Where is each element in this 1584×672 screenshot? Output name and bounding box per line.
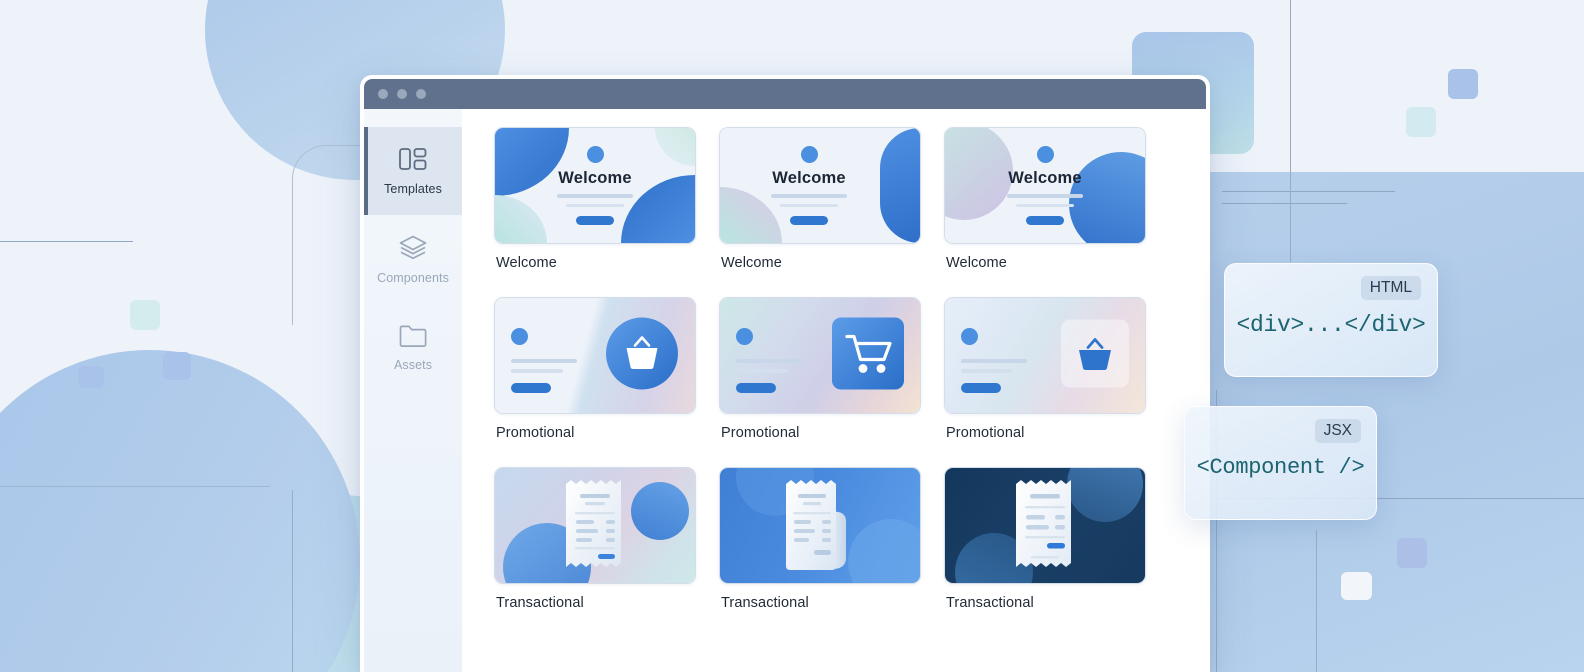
- language-tag: JSX: [1315, 419, 1361, 443]
- bg-circle-large-bottom: [0, 350, 360, 672]
- template-card[interactable]: Promotional: [494, 297, 696, 459]
- avatar: [961, 328, 978, 345]
- bg-square-white: [1341, 572, 1372, 600]
- folder-icon: [398, 323, 428, 348]
- template-card[interactable]: Transactional: [719, 467, 921, 629]
- template-card-title: Welcome: [721, 255, 921, 271]
- bg-line-h-right-2: [1222, 203, 1347, 204]
- sidebar-item-templates[interactable]: Templates: [364, 127, 462, 215]
- template-card[interactable]: Promotional: [944, 297, 1146, 459]
- template-thumbnail[interactable]: Welcome: [944, 127, 1146, 244]
- maximize-button[interactable]: [416, 89, 426, 99]
- template-thumbnail[interactable]: [494, 467, 696, 584]
- template-gallery: Welcome Welcome: [462, 109, 1206, 672]
- sidebar-nav: Templates Components A: [364, 109, 462, 672]
- placeholder-line: [557, 194, 633, 198]
- thumb-heading: Welcome: [558, 169, 632, 188]
- app-window: Templates Components A: [360, 75, 1210, 672]
- close-button[interactable]: [378, 89, 388, 99]
- template-card-title: Transactional: [721, 595, 921, 611]
- layers-icon: [398, 234, 428, 261]
- bg-square-mint-2: [1406, 107, 1436, 137]
- sidebar-item-components[interactable]: Components: [364, 215, 462, 303]
- bg-square-periwinkle: [1397, 538, 1427, 568]
- template-card-title: Promotional: [721, 425, 921, 441]
- template-card-title: Promotional: [946, 425, 1146, 441]
- template-thumbnail[interactable]: Welcome: [494, 127, 696, 244]
- code-badge-jsx: JSX <Component />: [1184, 406, 1377, 520]
- template-card[interactable]: Transactional: [494, 467, 696, 629]
- receipt-icon: [720, 468, 920, 583]
- bg-line-v-top: [1290, 0, 1291, 262]
- bg-line-h-lower: [0, 486, 270, 487]
- cta-button-placeholder: [790, 216, 828, 225]
- code-snippet: <Component />: [1185, 455, 1376, 480]
- placeholder-line: [1007, 194, 1083, 198]
- bg-square-mint: [130, 300, 160, 330]
- bg-line-v-mid: [292, 490, 293, 672]
- placeholder-line: [1016, 204, 1074, 208]
- bg-line-v-bottom: [1316, 530, 1317, 672]
- sidebar-item-label: Components: [377, 271, 449, 285]
- template-thumbnail[interactable]: [719, 297, 921, 414]
- placeholder-line: [736, 369, 788, 373]
- sidebar-item-label: Assets: [394, 358, 432, 372]
- template-card-title: Transactional: [496, 595, 696, 611]
- code-badge-html: HTML <div>...</div>: [1224, 263, 1438, 377]
- bg-square-blue-1: [163, 352, 191, 380]
- sidebar-item-assets[interactable]: Assets: [364, 303, 462, 391]
- template-card[interactable]: Welcome Welcome: [494, 127, 696, 289]
- language-tag: HTML: [1361, 276, 1421, 300]
- avatar: [587, 146, 604, 163]
- receipt-icon: [495, 468, 695, 583]
- placeholder-line: [511, 359, 577, 363]
- template-card-title: Promotional: [496, 425, 696, 441]
- thumb-heading: Welcome: [1008, 169, 1082, 188]
- template-card-title: Welcome: [946, 255, 1146, 271]
- placeholder-line: [736, 359, 802, 363]
- receipt-icon: [945, 468, 1145, 583]
- minimize-button[interactable]: [397, 89, 407, 99]
- template-thumbnail[interactable]: [944, 467, 1146, 584]
- shopping-basket-icon: [1061, 319, 1129, 392]
- bg-line-h-right-1: [1222, 191, 1395, 192]
- cta-button-placeholder: [576, 216, 614, 225]
- bg-square-blue-3: [1448, 69, 1478, 99]
- layout-icon: [398, 146, 428, 172]
- template-card[interactable]: Welcome Welcome: [944, 127, 1146, 289]
- cta-button-placeholder: [511, 383, 551, 393]
- placeholder-line: [961, 369, 1013, 373]
- placeholder-line: [511, 369, 563, 373]
- placeholder-line: [780, 204, 838, 208]
- cta-button-placeholder: [961, 383, 1001, 393]
- cta-button-placeholder: [1026, 216, 1064, 225]
- sidebar-item-label: Templates: [384, 182, 442, 196]
- avatar: [511, 328, 528, 345]
- template-card-title: Welcome: [496, 255, 696, 271]
- template-thumbnail[interactable]: Welcome: [719, 127, 921, 244]
- placeholder-line: [566, 204, 624, 208]
- template-thumbnail[interactable]: [944, 297, 1146, 414]
- placeholder-line: [961, 359, 1027, 363]
- template-card[interactable]: Transactional: [944, 467, 1146, 629]
- placeholder-line: [771, 194, 847, 198]
- avatar: [801, 146, 818, 163]
- avatar: [736, 328, 753, 345]
- template-card-title: Transactional: [946, 595, 1146, 611]
- template-card[interactable]: Promotional: [719, 297, 921, 459]
- window-titlebar: [364, 79, 1206, 109]
- shopping-cart-icon: [832, 317, 904, 394]
- template-card[interactable]: Welcome Welcome: [719, 127, 921, 289]
- template-thumbnail[interactable]: [494, 297, 696, 414]
- bg-square-blue-2: [78, 366, 104, 388]
- template-thumbnail[interactable]: [719, 467, 921, 584]
- code-snippet: <div>...</div>: [1225, 312, 1437, 338]
- thumb-heading: Welcome: [772, 169, 846, 188]
- avatar: [1037, 146, 1054, 163]
- template-grid: Welcome Welcome: [494, 127, 1184, 629]
- shopping-basket-icon: [605, 316, 679, 395]
- cta-button-placeholder: [736, 383, 776, 393]
- bg-line-h-left: [0, 241, 133, 242]
